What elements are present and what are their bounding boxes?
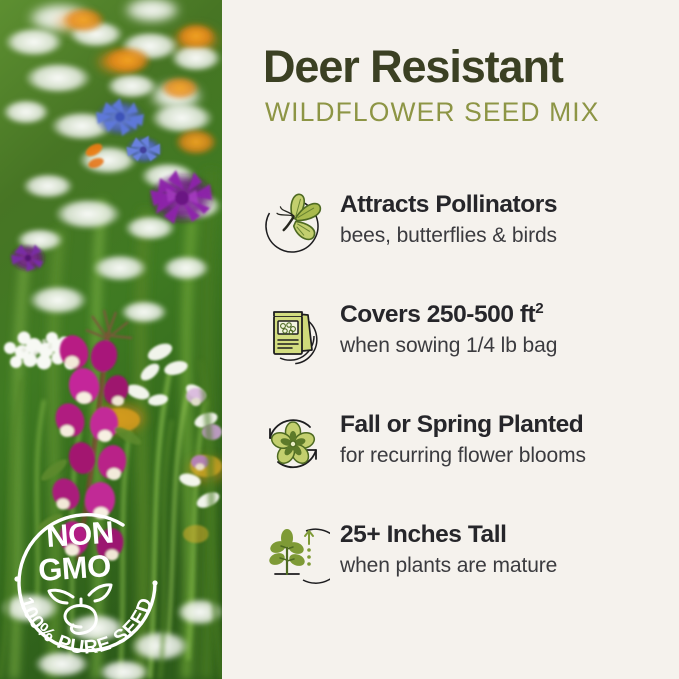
feature-text-coverage: Covers 250-500 ft2 when sowing 1/4 lb ba… — [340, 302, 676, 357]
badge-curved-text: 100% PURE SEED — [14, 594, 157, 659]
feature-heading: 25+ Inches Tall — [340, 522, 676, 548]
feature-item-pollinators: Attracts Pollinators bees, butterflies &… — [258, 184, 678, 294]
badge-dot-left — [14, 576, 19, 581]
feature-text-height: 25+ Inches Tall when plants are mature — [340, 522, 676, 577]
seed-packet-icon — [258, 298, 330, 370]
feature-subtext: when plants are mature — [340, 554, 676, 577]
wildflower-meadow-photo: NON GMO 100% PURE SEED — [0, 0, 222, 679]
feature-heading: Fall or Spring Planted — [340, 412, 676, 438]
feature-text-planting-season: Fall or Spring Planted for recurring flo… — [340, 412, 676, 467]
feature-list: Attracts Pollinators bees, butterflies &… — [258, 184, 678, 624]
feature-subtext: for recurring flower blooms — [340, 444, 676, 467]
feature-item-height: 25+ Inches Tall when plants are mature — [258, 514, 678, 624]
badge-graphic: NON GMO 100% PURE SEED — [3, 505, 168, 677]
feature-heading-main: Covers 250-500 ft — [340, 301, 535, 328]
product-infographic: NON GMO 100% PURE SEED — [0, 0, 679, 679]
page-title: Deer Resistant — [263, 44, 673, 89]
feature-item-planting-season: Fall or Spring Planted for recurring flo… — [258, 404, 678, 514]
feature-item-coverage: Covers 250-500 ft2 when sowing 1/4 lb ba… — [258, 294, 678, 404]
feature-text-pollinators: Attracts Pollinators bees, butterflies &… — [340, 192, 676, 247]
feature-subtext: bees, butterflies & birds — [340, 224, 676, 247]
growing-plant-icon — [258, 518, 330, 590]
feature-subtext: when sowing 1/4 lb bag — [340, 334, 676, 357]
flower-recycle-icon — [258, 408, 330, 480]
content-panel: Deer Resistant WILDFLOWER SEED MIX — [222, 0, 679, 679]
non-gmo-pure-seed-badge: NON GMO 100% PURE SEED — [3, 505, 168, 677]
page-subtitle: WILDFLOWER SEED MIX — [265, 99, 673, 126]
butterfly-icon — [258, 188, 330, 260]
feature-heading: Covers 250-500 ft2 — [340, 302, 676, 328]
seed-sprout-icon — [49, 585, 111, 634]
badge-dot-right — [152, 580, 157, 585]
badge-line-2: GMO — [37, 548, 112, 588]
feature-heading: Attracts Pollinators — [340, 192, 676, 218]
feature-heading-superscript: 2 — [535, 300, 543, 317]
title-block: Deer Resistant WILDFLOWER SEED MIX — [263, 44, 673, 126]
